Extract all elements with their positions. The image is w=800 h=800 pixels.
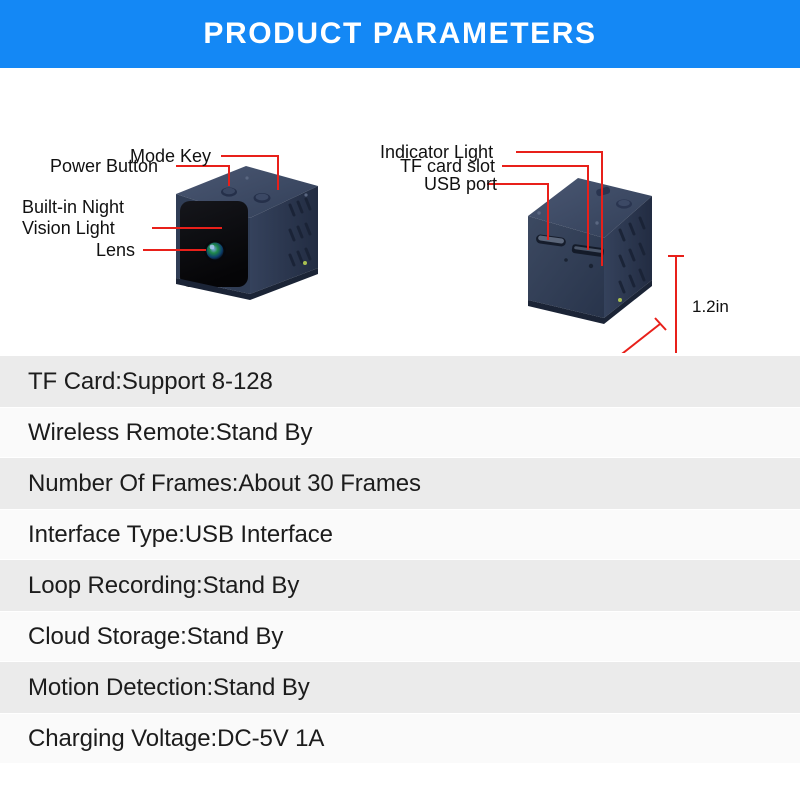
table-row: Motion Detection:Stand By (0, 662, 800, 713)
spec-text: Charging Voltage:DC-5V 1A (28, 725, 324, 753)
spec-text: Interface Type:USB Interface (28, 521, 333, 549)
dimension-height: 1.2in (692, 297, 729, 316)
label-builtin-night: Built-in Night (22, 197, 124, 217)
page-header-band: PRODUCT PARAMETERS (0, 0, 800, 68)
label-tf-card-slot: TF card slot (400, 156, 495, 176)
spec-text: Loop Recording:Stand By (28, 572, 299, 600)
spec-text: Cloud Storage:Stand By (28, 623, 283, 651)
spec-text: Wireless Remote:Stand By (28, 419, 312, 447)
specification-table: TF Card:Support 8-128 Wireless Remote:St… (0, 356, 800, 764)
front-view-camera (176, 166, 318, 300)
label-lens: Lens (96, 240, 135, 260)
page-title: PRODUCT PARAMETERS (203, 17, 596, 51)
label-power-button: Power Button (50, 156, 158, 176)
indicator-light-shape (589, 264, 593, 268)
back-view-labels: Indicator Light TF card slot USB port (380, 142, 497, 194)
label-usb-port: USB port (424, 174, 497, 194)
label-vision-light: Vision Light (22, 218, 115, 238)
product-diagram-area: Mode Key Power Button Built-in Night Vis… (0, 68, 800, 353)
table-row: TF Card:Support 8-128 (0, 356, 800, 407)
table-row: Interface Type:USB Interface (0, 509, 800, 560)
spec-text: TF Card:Support 8-128 (28, 368, 273, 396)
spec-text: Number Of Frames:About 30 Frames (28, 470, 421, 498)
table-row: Charging Voltage:DC-5V 1A (0, 713, 800, 764)
table-row: Cloud Storage:Stand By (0, 611, 800, 662)
table-row: Loop Recording:Stand By (0, 560, 800, 611)
spec-text: Motion Detection:Stand By (28, 674, 310, 702)
table-row: Number Of Frames:About 30 Frames (0, 458, 800, 509)
back-view-camera (528, 178, 652, 324)
table-row: Wireless Remote:Stand By (0, 407, 800, 458)
